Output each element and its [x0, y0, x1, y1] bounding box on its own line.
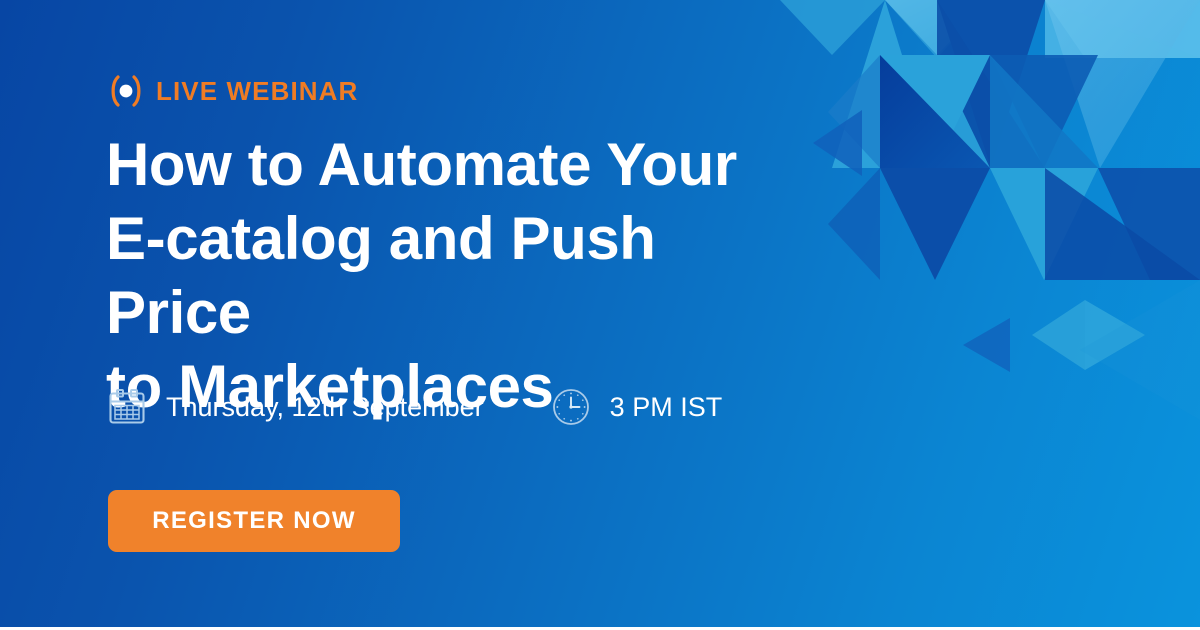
event-meta: Thursday, 12th September — [106, 386, 722, 428]
banner-content: LIVE WEBINAR How to Automate Your E-cata… — [106, 0, 866, 630]
event-date: Thursday, 12th September — [106, 386, 484, 428]
calendar-icon — [106, 386, 148, 428]
event-date-text: Thursday, 12th September — [166, 394, 484, 421]
live-webinar-eyebrow: LIVE WEBINAR — [106, 74, 358, 108]
headline-line-2: E-catalog and Push Price — [106, 202, 806, 350]
clock-icon — [550, 386, 592, 428]
page-title: How to Automate Your E-catalog and Push … — [106, 128, 806, 424]
register-now-button[interactable]: REGISTER NOW — [108, 490, 400, 552]
live-dot-icon — [106, 74, 146, 108]
webinar-banner: LIVE WEBINAR How to Automate Your E-cata… — [0, 0, 1200, 630]
live-webinar-label: LIVE WEBINAR — [156, 78, 358, 104]
event-time-text: 3 PM IST — [610, 394, 723, 421]
event-time: 3 PM IST — [550, 386, 723, 428]
headline-line-1: How to Automate Your — [106, 128, 806, 202]
